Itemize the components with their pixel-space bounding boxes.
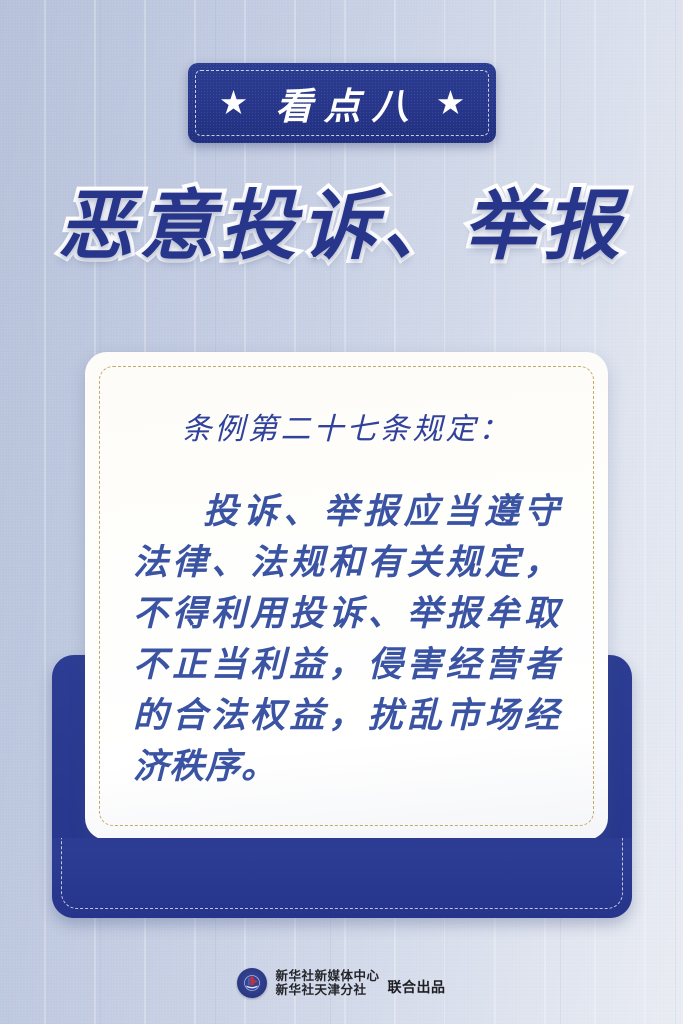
footer-suffix: 联合出品 — [388, 977, 446, 998]
footer: 新华社新媒体中心 新华社天津分社 联合出品 — [0, 968, 683, 998]
clause-body: 投诉、举报应当遵守法律、法规和有关规定，不得利用投诉、举报牟取不正当利益，侵害经… — [133, 486, 560, 792]
content-card: 条例第二十七条规定： 投诉、举报应当遵守法律、法规和有关规定，不得利用投诉、举报… — [85, 352, 608, 840]
clause-heading: 条例第二十七条规定： — [133, 410, 560, 450]
header-badge: 看点八 — [188, 63, 496, 143]
pocket-front-dashed-border — [61, 838, 623, 909]
badge-label: 看点八 — [265, 76, 420, 130]
xinhua-logo-icon — [237, 968, 267, 998]
page-title: 恶意投诉、举报 — [0, 178, 683, 274]
xinhua-logo-mark-icon — [244, 975, 260, 991]
content-card-inner: 条例第二十七条规定： 投诉、举报应当遵守法律、法规和有关规定，不得利用投诉、举报… — [99, 366, 594, 826]
poster-canvas: 看点八 恶意投诉、举报 条例第二十七条规定： 投诉、举报应当遵守法律、法规和有关… — [0, 0, 683, 1024]
footer-organizations: 新华社新媒体中心 新华社天津分社 — [275, 969, 379, 998]
star-icon-left — [221, 90, 247, 116]
pocket-front-flap — [52, 838, 632, 918]
star-icon-right — [438, 90, 464, 116]
footer-org-line-2: 新华社天津分社 — [275, 983, 379, 998]
footer-org-line-1: 新华社新媒体中心 — [275, 969, 379, 984]
